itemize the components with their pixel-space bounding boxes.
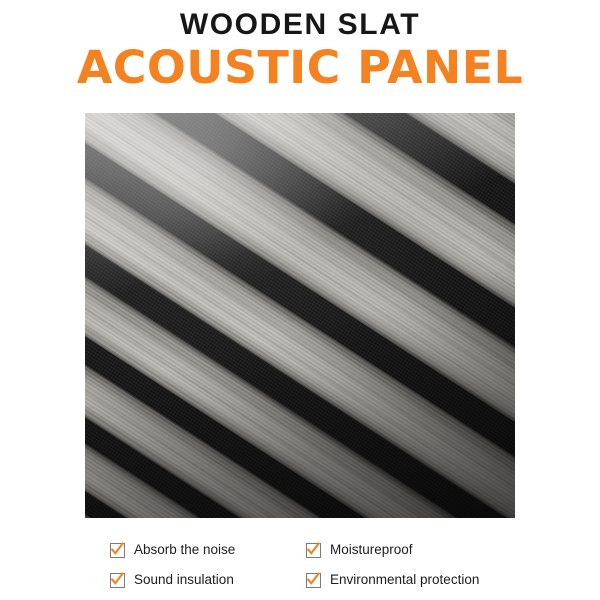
- page-subtitle: ACOUSTIC PANEL: [0, 41, 600, 91]
- checkbox-checked-icon: [306, 543, 321, 558]
- feature-label: Environmental protection: [330, 573, 479, 587]
- feature-list: Absorb the noiseMoistureproofSound insul…: [110, 535, 520, 595]
- checkbox-checked-icon: [306, 573, 321, 588]
- feature-item: Sound insulation: [110, 573, 306, 588]
- feature-item: Moistureproof: [306, 543, 520, 558]
- checkbox-checked-icon: [110, 573, 125, 588]
- slat-panel-surface: [85, 113, 515, 518]
- feature-item: Absorb the noise: [110, 543, 306, 558]
- product-photo: [85, 113, 515, 518]
- feature-label: Absorb the noise: [134, 543, 235, 557]
- product-poster: WOODEN SLAT ACOUSTIC PANEL Absorb the no…: [0, 0, 600, 600]
- feature-label: Sound insulation: [134, 573, 234, 587]
- page-title: WOODEN SLAT: [0, 0, 600, 41]
- feature-label: Moistureproof: [330, 543, 413, 557]
- checkbox-checked-icon: [110, 543, 125, 558]
- feature-item: Environmental protection: [306, 573, 520, 588]
- poster-heading: WOODEN SLAT ACOUSTIC PANEL: [0, 0, 600, 91]
